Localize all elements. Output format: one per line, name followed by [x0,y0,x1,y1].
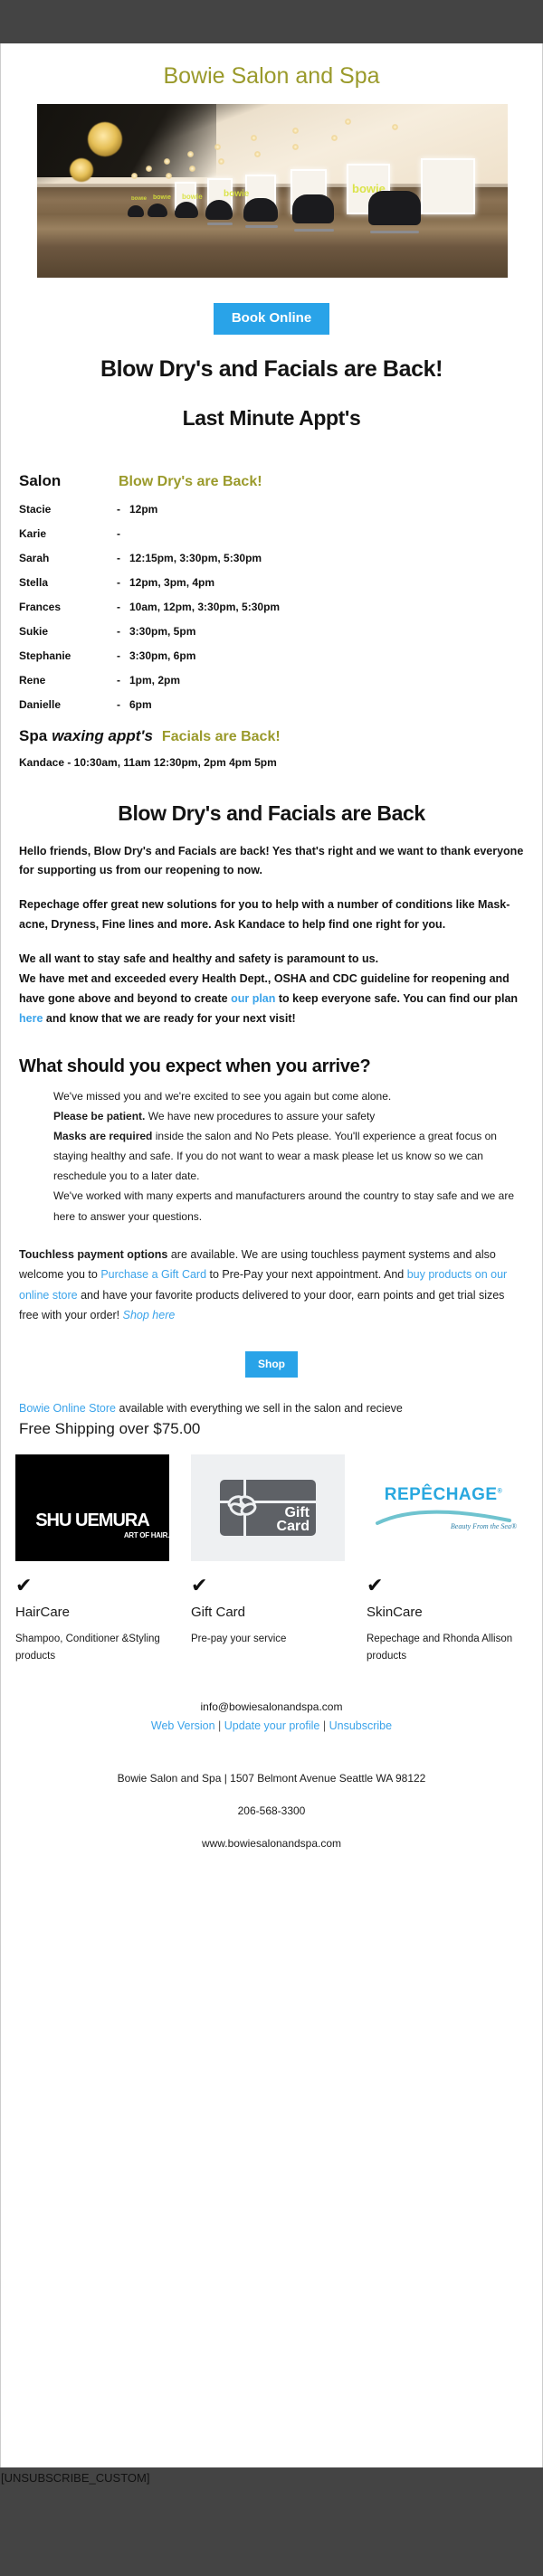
here-link[interactable]: here [19,1012,43,1025]
repechage-text: REPÊCHAGE [385,1485,498,1504]
safety-line-3: to keep everyone safe. You can find our … [275,992,518,1005]
purchase-gift-card-link[interactable]: Purchase a Gift Card [100,1268,206,1281]
bowie-online-store-link[interactable]: Bowie Online Store [19,1402,116,1415]
client-chrome-top [0,0,543,43]
update-profile-link[interactable]: Update your profile [224,1719,320,1732]
shu-uemura-logo[interactable]: SHU UEMURA ART OF HAIR. [15,1454,169,1561]
masks-required-bold: Masks are required [53,1130,152,1142]
page-subtitle: Last Minute Appt's [1,406,542,431]
stylist-name: Danielle [19,698,117,711]
repechage-logo[interactable]: REPÊCHAGE® Beauty From the Sea® [367,1454,520,1561]
expect-line-4: We've worked with many experts and manuf… [53,1189,514,1222]
row-dash: - [117,674,129,687]
salon-label: Salon [19,472,119,490]
row-dash: - [117,527,129,540]
stylist-name: Stacie [19,503,117,516]
spa-waxing-label: waxing appt's [52,727,153,745]
hero-image-wrap: bowie bowie bowie bowie bowie [1,104,542,278]
registered-mark: ® [498,1489,503,1495]
stylist-times: 3:30pm, 6pm [129,649,195,662]
shop-button[interactable]: Shop [245,1351,298,1378]
client-chrome-bottom: [UNSUBSCRIBE_CUSTOM] [0,2467,543,2576]
column-giftcard: Gift Card ✔ Gift Card Pre-pay your servi… [191,1454,345,1664]
blowdry-promo-label: Blow Dry's are Back! [119,474,262,490]
chandelier-icon [70,158,93,182]
web-version-link[interactable]: Web Version [151,1719,215,1732]
table-row: Sukie - 3:30pm, 5pm [19,625,524,638]
masthead: Bowie Salon and Spa [1,43,542,104]
column-haircare: SHU UEMURA ART OF HAIR. ✔ HairCare Shamp… [15,1454,169,1664]
stylist-name: Sukie [19,625,117,638]
row-dash: - [117,698,129,711]
paragraph-welcome: Hello friends, Blow Dry's and Facials ar… [19,842,524,882]
stylist-name: Karie [19,527,117,540]
table-row: Sarah - 12:15pm, 3:30pm, 5:30pm [19,552,524,564]
table-row: Stephanie - 3:30pm, 6pm [19,649,524,662]
repechage-tagline-text: Beauty From the Sea [451,1522,511,1530]
column-title: Gift Card [191,1605,345,1620]
expect-para: We've missed you and we're excited to se… [53,1086,524,1226]
book-online-row: Book Online [1,278,542,351]
email-preview-page: Bowie Salon and Spa [0,0,543,2576]
row-dash: - [117,625,129,638]
shop-here-link[interactable]: Shop here [123,1309,176,1321]
stylist-times: 12pm, 3pm, 4pm [129,576,214,589]
expect-heading: What should you expect when you arrive? [1,1056,542,1077]
shu-uemura-tagline: ART OF HAIR. [124,1531,169,1539]
stylist-times: 10am, 12pm, 3:30pm, 5:30pm [129,601,280,613]
stylist-times: 12:15pm, 3:30pm, 5:30pm [129,552,262,564]
body-copy-bold: Hello friends, Blow Dry's and Facials ar… [1,833,542,1029]
table-row: Danielle - 6pm [19,698,524,711]
schedule-header-row: Salon Blow Dry's are Back! [19,472,524,490]
expect-line-2: We have new procedures to assure your sa… [145,1110,375,1122]
online-store-text: available with everything we sell in the… [116,1402,403,1415]
row-dash: - [117,601,129,613]
stylist-times: 3:30pm, 5pm [129,625,195,638]
repechage-tagline: Beauty From the Sea® [451,1522,517,1530]
appointment-schedule: Salon Blow Dry's are Back! Stacie - 12pm… [1,438,542,778]
free-shipping-text: Free Shipping over $75.00 [1,1418,542,1438]
stylist-times: 1pm, 2pm [129,674,180,687]
contact-email: info@bowiesalonandspa.com [19,1700,524,1713]
row-dash: - [117,552,129,564]
paragraph-repechage: Repechage offer great new solutions for … [19,895,524,935]
check-icon: ✔ [367,1576,520,1596]
stylist-name: Sarah [19,552,117,564]
footer-links: Web Version | Update your profile | Unsu… [19,1719,524,1732]
row-dash: - [117,503,129,516]
email-footer: info@bowiesalonandspa.com Web Version | … [1,1664,542,1880]
check-icon: ✔ [191,1576,345,1596]
column-title: HairCare [15,1605,169,1620]
column-description: Shampoo, Conditioner &Styling products [15,1631,169,1664]
gift-card-icon[interactable]: Gift Card [191,1454,345,1561]
stylist-name: Stephanie [19,649,117,662]
stylist-times: 12pm [129,503,157,516]
stylist-name: Stella [19,576,117,589]
row-dash: - [117,649,129,662]
table-row: Karie - [19,527,524,540]
section-heading-back: Blow Dry's and Facials are Back [1,801,542,826]
business-phone: 206-568-3300 [19,1804,524,1817]
expect-copy: We've missed you and we're excited to se… [1,1086,542,1226]
chandelier-icon [88,122,122,156]
safety-line-4: and know that we are ready for your next… [43,1012,295,1025]
spa-label: Spa [19,727,47,745]
payment-text-2: to Pre-Pay your next appointment. And [206,1268,407,1281]
repechage-wordmark: REPÊCHAGE® [385,1485,503,1505]
expect-line-1: We've missed you and we're excited to se… [53,1090,391,1103]
online-store-line: Bowie Online Store available with everyt… [1,1390,542,1418]
payment-copy: Touchless payment options are available.… [1,1236,542,1326]
business-website: www.bowiesalonandspa.com [19,1837,524,1880]
column-skincare: REPÊCHAGE® Beauty From the Sea® ✔ SkinCa… [367,1454,520,1664]
check-icon: ✔ [15,1576,169,1596]
table-row: Frances - 10am, 12pm, 3:30pm, 5:30pm [19,601,524,613]
payment-para: Touchless payment options are available.… [19,1245,524,1326]
table-row: Rene - 1pm, 2pm [19,674,524,687]
page-title: Blow Dry's and Facials are Back! [1,356,542,383]
shop-button-row: Shop [1,1337,542,1390]
column-description: Pre-pay your service [191,1631,345,1647]
card-word: Card [277,1519,310,1534]
facials-promo-label: Facials are Back! [162,729,281,745]
shu-uemura-wordmark: SHU UEMURA [35,1511,149,1529]
please-be-patient-bold: Please be patient. [53,1110,145,1122]
payment-text-3: and have your favorite products delivere… [19,1289,504,1322]
unsubscribe-link[interactable]: Unsubscribe [329,1719,392,1732]
gift-card-graphic: Gift Card [220,1480,316,1536]
salon-interior-photo: bowie bowie bowie bowie bowie [37,104,508,278]
link-separator: | [323,1719,326,1732]
table-row: Stella - 12pm, 3pm, 4pm [19,576,524,589]
table-row: Kandace - 10:30am, 11am 12:30pm, 2pm 4pm… [19,756,524,769]
our-plan-link[interactable]: our plan [231,992,275,1005]
table-row: Stacie - 12pm [19,503,524,516]
touchless-bold: Touchless payment options [19,1248,167,1261]
product-columns: SHU UEMURA ART OF HAIR. ✔ HairCare Shamp… [1,1438,542,1664]
paragraph-safety: We all want to stay safe and healthy and… [19,950,524,1029]
stylist-times: 6pm [129,698,152,711]
unsubscribe-token: [UNSUBSCRIBE_CUSTOM] [1,2471,149,2485]
safety-line-1: We all want to stay safe and healthy and… [19,952,378,965]
row-dash: - [117,576,129,589]
link-separator: | [218,1719,221,1732]
email-content: Bowie Salon and Spa [0,43,543,2467]
gift-card-text: Gift Card [277,1506,310,1533]
spa-header-row: Spa waxing appt's Facials are Back! [19,727,524,745]
column-title: SkinCare [367,1605,520,1620]
business-address: Bowie Salon and Spa | 1507 Belmont Avenu… [19,1772,524,1785]
brand-title: Bowie Salon and Spa [1,63,542,90]
column-description: Repechage and Rhonda Allison products [367,1631,520,1664]
book-online-button[interactable]: Book Online [214,303,329,335]
stylist-name: Rene [19,674,117,687]
stylist-name: Frances [19,601,117,613]
